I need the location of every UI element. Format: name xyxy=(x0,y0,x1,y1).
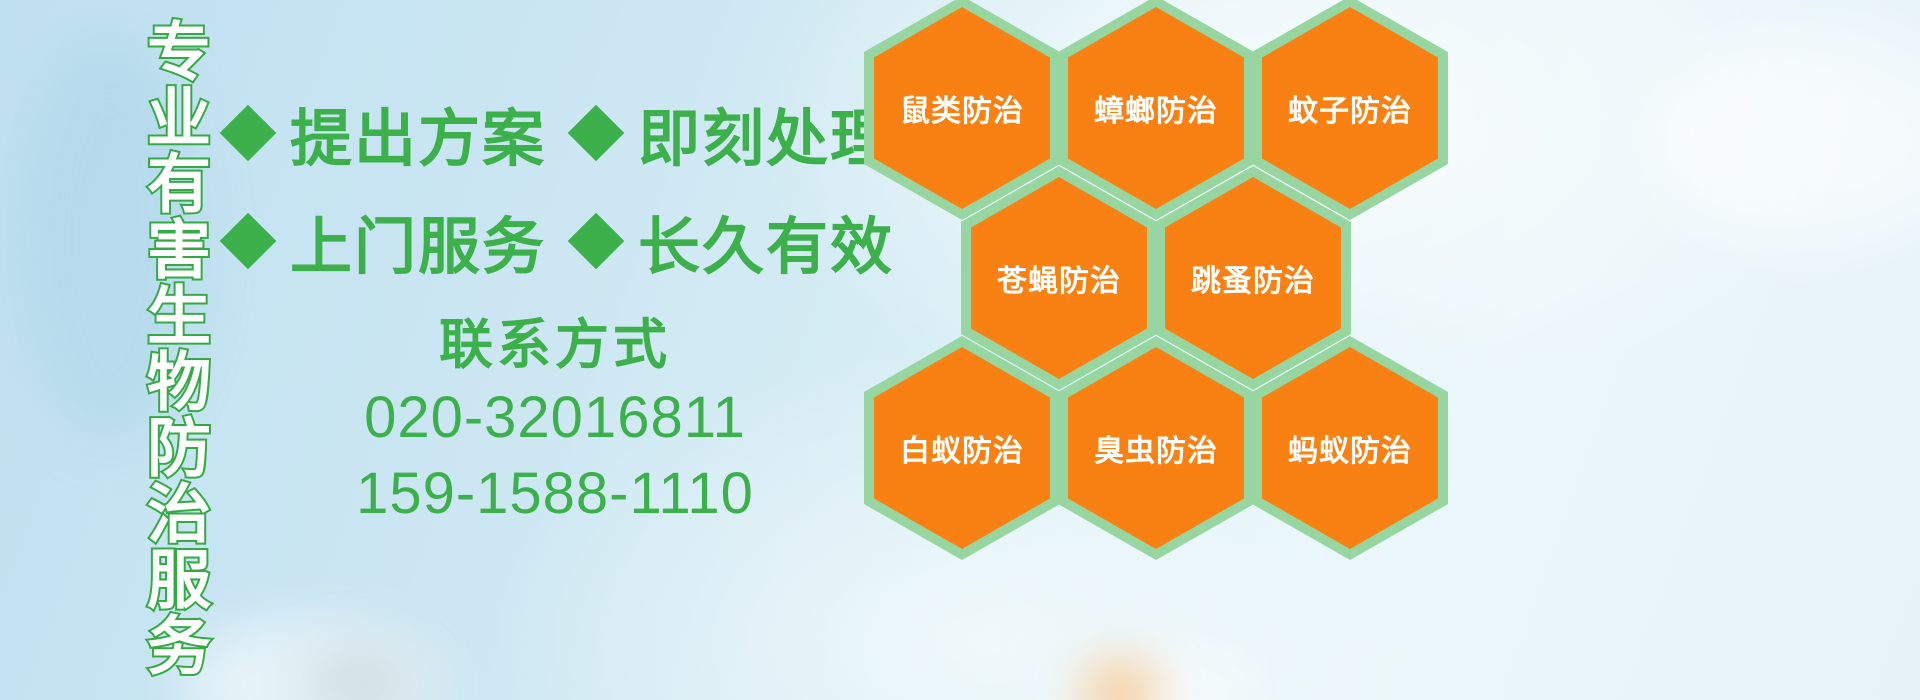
hex-inner: 鼠类防治 xyxy=(874,7,1050,209)
background-bokeh-blob xyxy=(300,648,420,700)
vertical-slogan: 专业有害生物防治服务 xyxy=(118,18,206,678)
background-bokeh-blob xyxy=(1085,664,1155,700)
feature-item-door-to-door-service: 上门服务 xyxy=(228,196,576,286)
service-label: 跳蚤防治 xyxy=(1191,256,1315,300)
service-label: 鼠类防治 xyxy=(900,86,1024,130)
contact-phone-mobile[interactable]: 159-1588-1110 xyxy=(320,456,790,533)
background-bokeh-blob xyxy=(1650,30,1920,250)
feature-item-propose-plan: 提出方案 xyxy=(228,88,576,178)
hex-inner: 蟑螂防治 xyxy=(1068,7,1244,209)
service-label: 苍蝇防治 xyxy=(997,256,1121,300)
feature-row-2: 上门服务 长久有效 xyxy=(228,196,894,286)
hex-inner: 苍蝇防治 xyxy=(971,177,1147,379)
hex-inner: 臭虫防治 xyxy=(1068,347,1244,549)
feature-item-immediate-handling: 即刻处理 xyxy=(576,88,894,178)
pest-control-banner: 专业有害生物防治服务 提出方案 即刻处理 上门服务 长久有效 联系方式 020-… xyxy=(0,0,1920,700)
service-label: 臭虫防治 xyxy=(1094,426,1218,470)
diamond-icon xyxy=(568,105,625,162)
feature-label: 提出方案 xyxy=(290,88,546,178)
hex-inner: 蚊子防治 xyxy=(1262,7,1438,209)
diamond-icon xyxy=(568,213,625,270)
background-bokeh-blob xyxy=(180,620,440,700)
service-label: 蚊子防治 xyxy=(1288,86,1412,130)
feature-item-long-lasting-effect: 长久有效 xyxy=(576,196,894,286)
diamond-icon xyxy=(220,105,277,162)
hex-inner: 跳蚤防治 xyxy=(1165,177,1341,379)
hex-inner: 蚂蚁防治 xyxy=(1262,347,1438,549)
feature-label: 上门服务 xyxy=(290,196,546,286)
background-bokeh-blob xyxy=(1060,650,1260,700)
diamond-icon xyxy=(220,213,277,270)
contact-phone-landline[interactable]: 020-32016811 xyxy=(320,380,790,457)
service-label: 蟑螂防治 xyxy=(1094,86,1218,130)
service-label: 白蚁防治 xyxy=(900,426,1024,470)
contact-block: 联系方式 020-32016811 159-1588-1110 xyxy=(320,312,790,533)
service-honeycomb: 鼠类防治 蟑螂防治 蚊子防治 苍蝇防治 跳蚤防治 白蚁防治 xyxy=(856,0,1476,548)
feature-row-1: 提出方案 即刻处理 xyxy=(228,88,894,178)
hex-inner: 白蚁防治 xyxy=(874,347,1050,549)
contact-title: 联系方式 xyxy=(320,312,790,380)
service-label: 蚂蚁防治 xyxy=(1288,426,1412,470)
